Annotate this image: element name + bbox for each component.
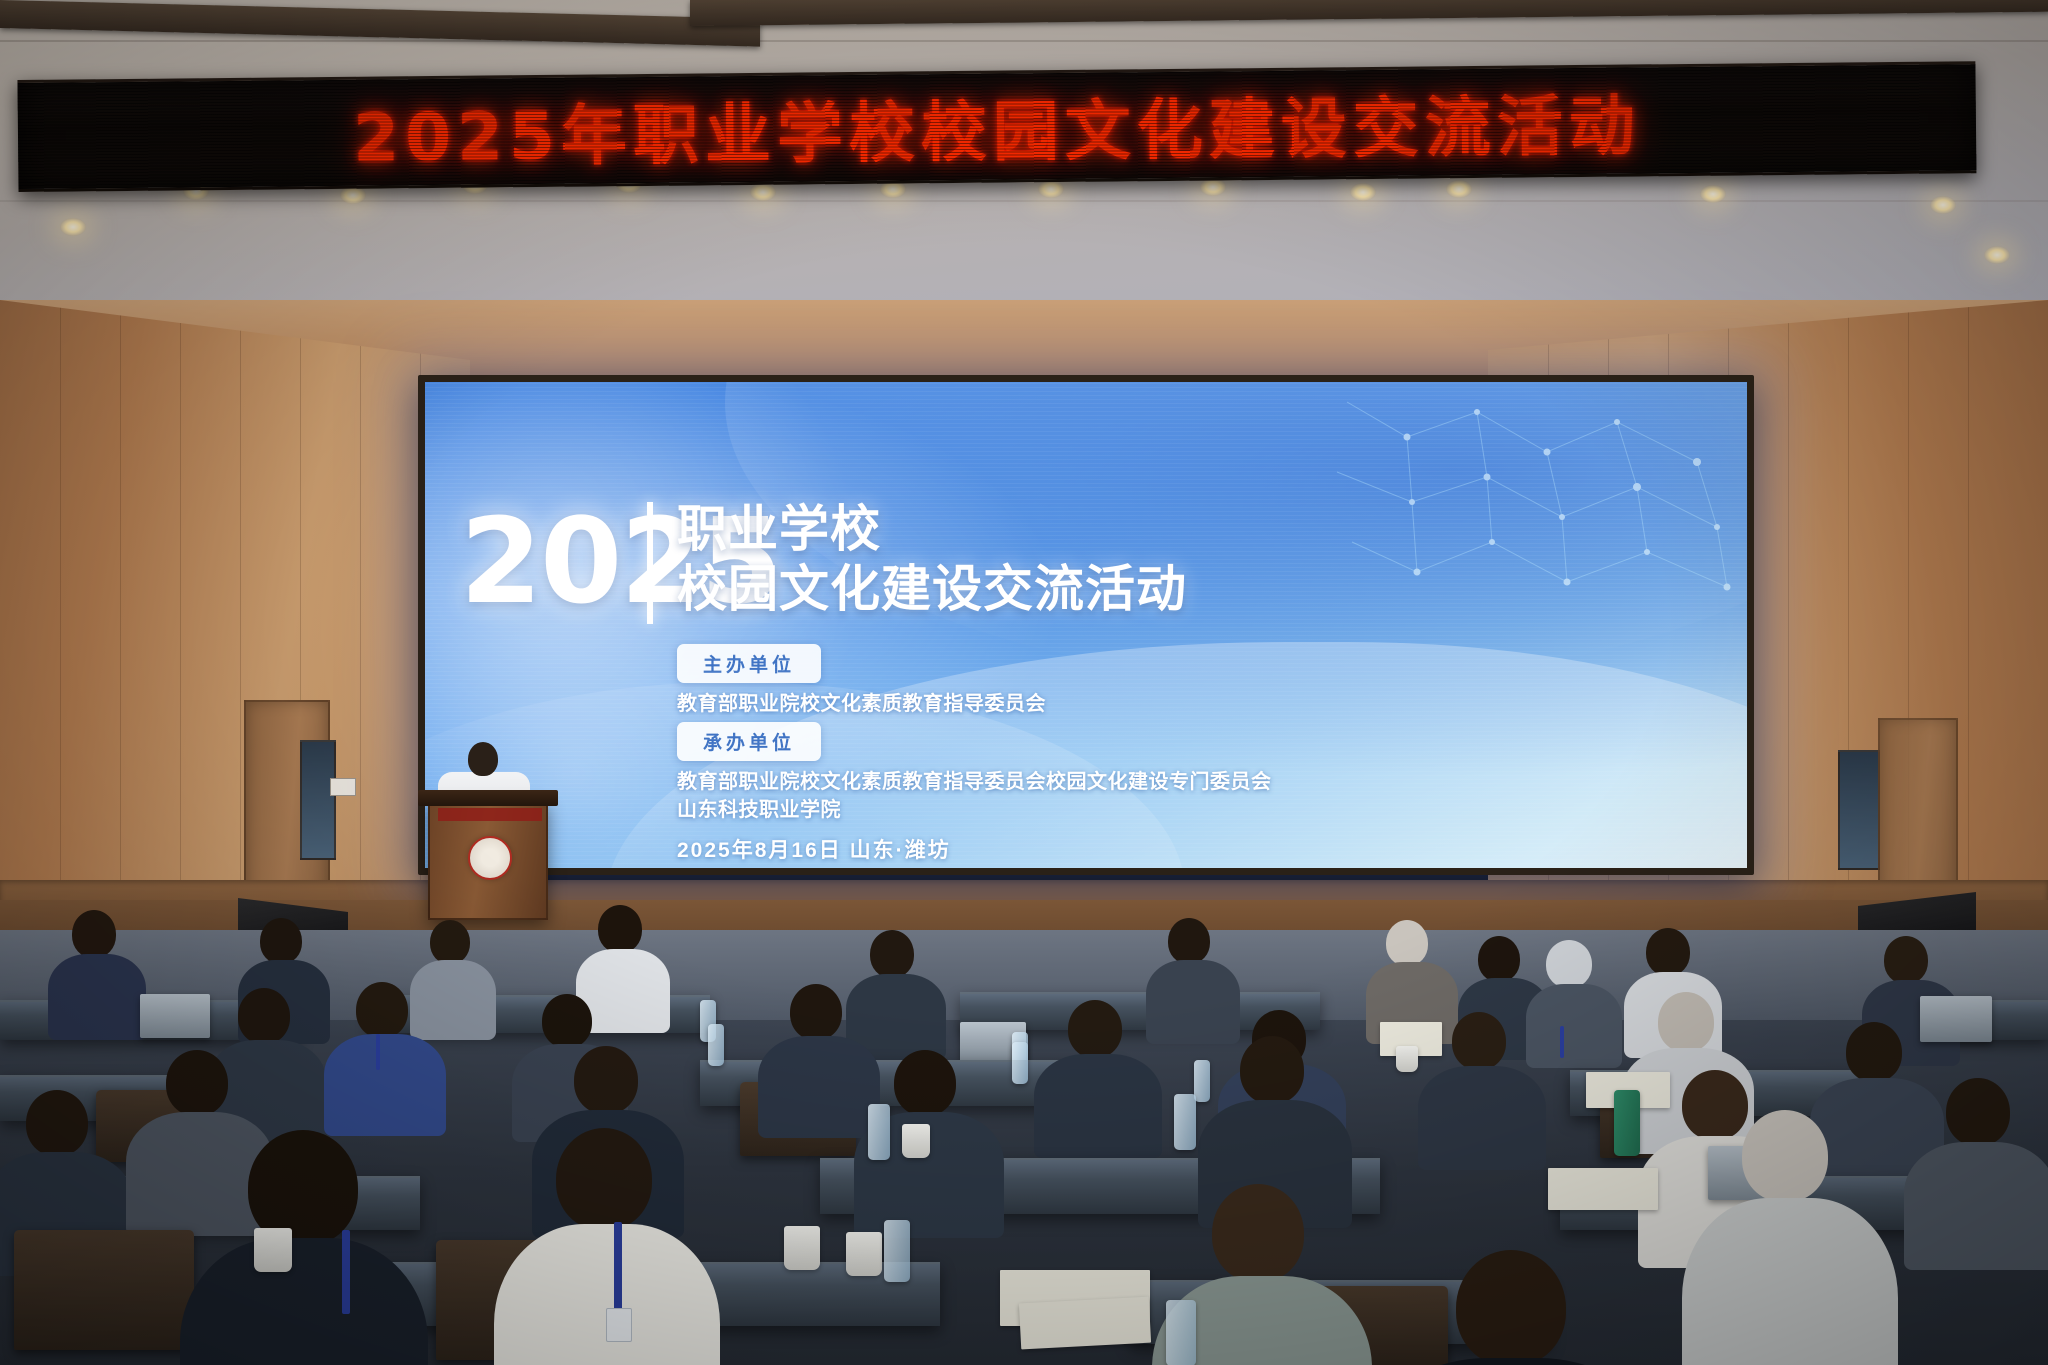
chair-back — [14, 1230, 194, 1350]
document-sheet[interactable] — [1019, 1297, 1151, 1350]
downlight — [1984, 246, 2010, 264]
paper-cup[interactable] — [1396, 1046, 1418, 1072]
organizer-organization-1: 教育部职业院校文化素质教育指导委员会校园文化建设专门委员会 — [677, 765, 1272, 794]
downlight — [1930, 196, 1956, 214]
water-bottle[interactable] — [1174, 1094, 1196, 1150]
led-banner: 2025年职业学校校园文化建设交流活动 — [17, 61, 1976, 192]
slide-content: 2025 职业学校 校园文化建设交流活动 主办单位 教育部职业院校文化素质教育指… — [425, 382, 1747, 868]
slide-divider — [647, 502, 653, 624]
podium — [428, 800, 548, 920]
slide-title-line1: 职业学校 — [677, 498, 881, 560]
podium-top-surface — [418, 790, 558, 806]
slide-title-line2: 校园文化建设交流活动 — [677, 558, 1187, 620]
water-bottle[interactable] — [1166, 1300, 1196, 1365]
podium-banner-strip — [438, 808, 542, 821]
paper-cup[interactable] — [846, 1232, 882, 1276]
name-badge — [606, 1308, 632, 1342]
downlight — [1038, 180, 1064, 198]
conference-hall-photo: 2025年职业学校校园文化建设交流活动 — [0, 0, 2048, 1365]
water-bottle[interactable] — [708, 1024, 724, 1066]
host-badge: 主办单位 — [677, 644, 821, 683]
downlight — [60, 218, 86, 236]
paper-cup[interactable] — [254, 1228, 292, 1272]
water-bottle[interactable] — [1194, 1060, 1210, 1102]
laptop[interactable] — [1920, 996, 1992, 1042]
downlight — [1446, 180, 1472, 198]
lanyard-strap — [342, 1230, 350, 1314]
paper-cup[interactable] — [784, 1226, 820, 1270]
water-bottle[interactable] — [868, 1104, 890, 1160]
podium-emblem-icon — [468, 836, 512, 880]
laptop[interactable] — [140, 994, 210, 1038]
organizer-organization-2: 山东科技职业学院 — [677, 793, 841, 822]
wall-left — [0, 300, 470, 940]
lanyard-strap — [1560, 1026, 1564, 1058]
water-bottle[interactable] — [884, 1220, 910, 1282]
downlight — [1350, 183, 1376, 201]
downlight — [750, 183, 776, 201]
presenter-head — [468, 742, 498, 776]
lanyard-strap — [614, 1222, 622, 1314]
water-bottle-green[interactable] — [1614, 1090, 1640, 1156]
downlight — [1700, 185, 1726, 203]
organizer-badge: 承办单位 — [677, 722, 821, 761]
paper-cup[interactable] — [902, 1124, 930, 1158]
water-bottle[interactable] — [1012, 1042, 1028, 1084]
slide-date-location: 2025年8月16日 山东·潍坊 — [677, 834, 951, 864]
exit-sign-left — [330, 778, 356, 796]
downlight — [1200, 178, 1226, 196]
led-banner-text: 2025年职业学校校园文化建设交流活动 — [18, 69, 1977, 184]
document-sheet[interactable] — [1548, 1168, 1658, 1210]
door-window-left — [300, 740, 336, 860]
door-window-right — [1838, 750, 1880, 870]
projection-screen: 2025 职业学校 校园文化建设交流活动 主办单位 教育部职业院校文化素质教育指… — [418, 375, 1754, 875]
host-organization: 教育部职业院校文化素质教育指导委员会 — [677, 687, 1046, 716]
lanyard-strap — [376, 1034, 380, 1070]
